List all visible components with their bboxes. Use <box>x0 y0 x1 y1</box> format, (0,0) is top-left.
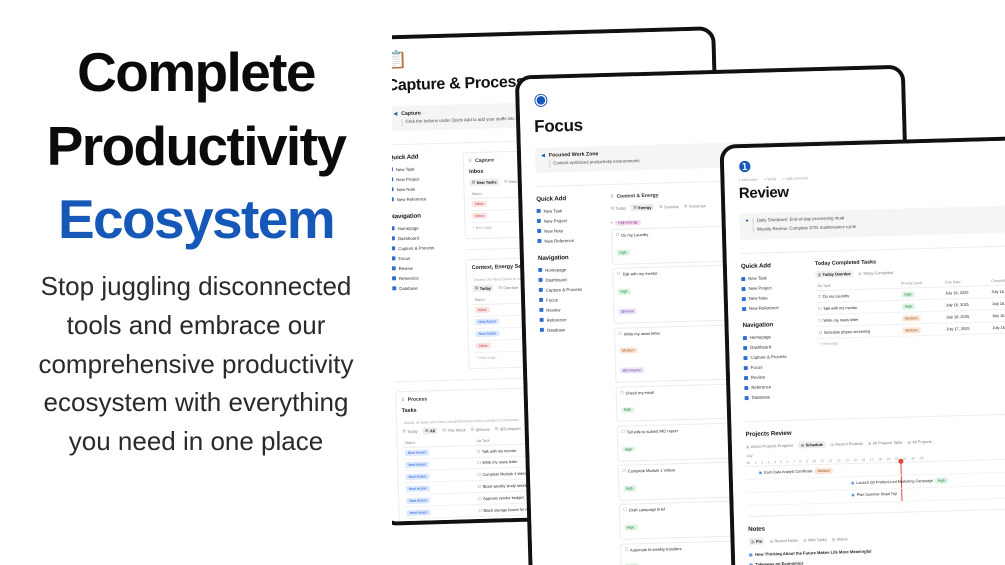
quick-add-item-new-reference[interactable]: New Reference <box>537 236 601 245</box>
sidebar-item-capture-process[interactable]: Capture & Process <box>743 353 807 362</box>
tab-this-week[interactable]: This Week <box>442 426 465 434</box>
sidebar-column: Quick Add New Task New Project New Note … <box>536 194 616 565</box>
tab-new-tasks[interactable]: New Tasks <box>469 178 499 186</box>
sidebar-item-dashboard[interactable]: Dashboard <box>743 343 807 352</box>
label: New Project <box>748 286 771 292</box>
label: New Note <box>544 228 563 234</box>
label: Dashboard <box>545 277 566 283</box>
tab-all-projects[interactable]: All Projects <box>907 438 932 446</box>
navigation-list: Homepage Dashboard Capture & Process Foc… <box>743 333 809 402</box>
priority-badge: High <box>621 407 634 413</box>
checkbox-icon[interactable]: ☐ <box>477 448 481 453</box>
square-icon <box>537 219 541 223</box>
quick-add-item-new-note[interactable]: New Note <box>742 294 806 303</box>
tick: 13 <box>837 459 841 463</box>
sidebar-item-dashboard[interactable]: Dashboard <box>538 275 602 284</box>
quick-add-item-new-task[interactable]: New Task <box>389 164 453 173</box>
sidebar-item-database[interactable]: Database <box>392 283 456 292</box>
label: Review <box>399 265 413 270</box>
divider <box>745 413 1005 422</box>
square-icon <box>540 318 544 322</box>
tab-today-completed[interactable]: Today Completed <box>858 269 893 277</box>
callout-review-rituals: ● Daily Shutdown: End-of-day processing … <box>739 205 1005 240</box>
tick: 17 <box>870 458 874 462</box>
square-icon <box>537 209 541 213</box>
projects-review-section: Projects Review Active Projects Progress… <box>746 423 1005 506</box>
priority-badge: Medium <box>902 315 921 321</box>
label: New Project <box>396 176 419 182</box>
navigation-list: Homepage Dashboard Capture & Process Foc… <box>391 223 457 292</box>
square-icon <box>537 229 541 233</box>
tab-at-home[interactable]: @Home <box>471 425 490 433</box>
task-label: Approve vendor budget <box>483 495 524 501</box>
label: Focus <box>751 365 763 370</box>
projects-review-heading: Projects Review <box>746 423 1005 438</box>
label: Homepage <box>398 225 419 231</box>
label: Database <box>399 285 418 291</box>
hero-paragraph: Stop juggling disconnected tools and emb… <box>31 267 361 461</box>
quick-add-list: New Task New Project New Note New Refere… <box>389 164 454 203</box>
completed-tabs: Today Overdue Today Completed <box>815 265 1005 278</box>
status-badge: Next Action <box>475 319 499 325</box>
sidebar-item-homepage[interactable]: Homepage <box>391 223 455 232</box>
quick-add-item-new-reference[interactable]: New Reference <box>742 304 806 313</box>
status-badge: Inbox <box>476 343 491 349</box>
navigation-heading: Navigation <box>742 321 806 330</box>
square-icon <box>392 266 396 270</box>
review-columns: Quick Add New Task New Project New Note … <box>741 255 1005 411</box>
tab-all[interactable]: All <box>422 427 437 434</box>
square-icon <box>744 366 748 370</box>
tab-recent-projects[interactable]: Recent Projects <box>830 440 863 448</box>
checkbox-icon[interactable]: ☐ <box>477 472 481 477</box>
tick: 16 <box>862 458 866 462</box>
page-title: Complete Productivity Ecosystem <box>16 36 376 257</box>
sidebar-item-homepage[interactable]: Homepage <box>538 265 602 274</box>
sidebar-item-capture-process[interactable]: Capture & Process <box>391 243 455 252</box>
sidebar-item-database[interactable]: Database <box>540 325 604 334</box>
task-label: Talk with my mentor <box>823 305 858 311</box>
label: Dashboard <box>398 235 419 241</box>
timeline-bar[interactable]: Launch Q3 Product-Led Marketing Campaign… <box>851 478 948 486</box>
square-icon <box>743 336 747 340</box>
label: Homepage <box>545 267 566 273</box>
task-label: Do my Laundry <box>823 293 850 299</box>
page-heading: Focus <box>534 107 888 137</box>
status-badge: Next Action <box>406 486 430 492</box>
tick: 14 <box>845 458 849 462</box>
quick-add-item-new-project[interactable]: New Project <box>389 174 453 183</box>
checkbox-icon[interactable]: ☐ <box>479 520 483 521</box>
sidebar-item-focus[interactable]: Focus <box>539 295 603 304</box>
context-badge: @Computer <box>620 368 645 374</box>
completed-tasks-table: Aa Task Priority Level Due Date Complete… <box>815 276 1005 339</box>
completed-heading: Today Completed Tasks <box>815 255 1005 267</box>
headline-line-2: Productivity <box>16 110 376 184</box>
label: Focus <box>546 297 558 302</box>
notes-section: Notes Pin Recent Notes With Tasks Status… <box>748 518 1005 565</box>
cell-due: July 17, 2025 <box>944 322 991 335</box>
navigation-heading: Navigation <box>538 253 602 262</box>
hero-section: Complete Productivity Ecosystem Stop jug… <box>0 0 392 565</box>
sidebar-column: Quick Add New Task New Project New Note … <box>389 152 459 371</box>
label: New Reference <box>544 238 574 244</box>
cell-done: July 16, 2025 <box>990 309 1005 322</box>
label: Focus <box>398 255 410 260</box>
label: New Project <box>544 218 567 224</box>
label: Capture & Process <box>398 245 434 251</box>
checkbox-icon[interactable]: ☐ <box>818 294 822 299</box>
eye-icon: ◉ <box>533 81 887 108</box>
tick: 30 <box>746 461 750 465</box>
checkbox-icon[interactable]: ☐ <box>818 318 822 323</box>
task-label: Talk with my mentor <box>482 447 517 453</box>
status-badge: Next Action <box>476 331 500 337</box>
main-column: Today Completed Tasks Today Overdue Toda… <box>815 255 1005 409</box>
status-badge: Inbox <box>472 201 487 207</box>
tick: 5 <box>780 460 782 464</box>
status-badge: Next Action <box>406 510 430 516</box>
tick: 11 <box>820 459 824 463</box>
square-icon <box>392 276 396 280</box>
status-badge: Inbox <box>472 213 487 219</box>
status-badge: Next Action <box>405 450 429 456</box>
screen-review: ❶ Add cover Verify Add comment Review ● … <box>724 140 1005 565</box>
timeline-bar[interactable]: Plan Summer Road Trip <box>851 492 897 497</box>
label: New Task <box>544 208 563 214</box>
notes-list: How Thinking About the Future Makes Life… <box>749 541 1005 565</box>
tick: 21 <box>903 457 907 461</box>
tick: 1 <box>755 461 757 465</box>
bar-title: Plan Summer Road Trip <box>857 492 898 497</box>
info-icon: ◀ <box>541 153 545 160</box>
sidebar-item-focus[interactable]: Focus <box>744 363 808 372</box>
tab-today[interactable]: Today <box>402 427 417 434</box>
bar-badge: Medium <box>815 468 834 474</box>
label: Reference <box>751 385 771 391</box>
quick-add-item-new-note[interactable]: New Note <box>389 184 453 193</box>
sidebar-item-capture-process[interactable]: Capture & Process <box>539 285 603 294</box>
bar-badge: High <box>935 478 948 484</box>
tab-energy[interactable]: Energy <box>631 203 654 211</box>
square-icon <box>741 287 745 291</box>
square-icon <box>745 396 749 400</box>
column-badge: High Energy <box>615 220 640 226</box>
navigation-list: Homepage Dashboard Capture & Process Foc… <box>538 265 604 334</box>
quick-add-heading: Quick Add <box>389 152 453 161</box>
sidebar-item-homepage[interactable]: Homepage <box>743 333 807 342</box>
square-icon <box>538 278 542 282</box>
tick: 7 <box>793 460 795 464</box>
checkbox-icon[interactable]: ☐ <box>478 496 482 501</box>
square-icon <box>392 286 396 290</box>
status-badge: Next Action <box>405 474 429 480</box>
checkbox-icon[interactable]: ☐ <box>819 330 823 335</box>
checkbox-icon[interactable]: ☐ <box>818 306 822 311</box>
label: Review <box>546 307 560 312</box>
label: Reference <box>547 317 567 323</box>
tick: 23 <box>919 456 923 460</box>
sidebar-item-focus[interactable]: Focus <box>391 253 455 262</box>
quick-add-item-new-project[interactable]: New Project <box>537 216 601 225</box>
cell-done: July 16, 2025 <box>990 297 1005 310</box>
add-cover-button[interactable]: Add cover <box>738 178 757 183</box>
tick: 2 <box>761 461 763 465</box>
tick: 3 <box>767 461 769 465</box>
quick-add-heading: Quick Add <box>741 262 805 271</box>
tab-all-projects-table[interactable]: All Projects Table <box>868 439 903 447</box>
bullet-icon: ● <box>746 218 749 225</box>
checkbox-icon[interactable]: ☐ <box>477 460 481 465</box>
quick-add-list: New Task New Project New Note New Refere… <box>537 206 602 245</box>
checkbox-icon[interactable]: ☐ <box>478 484 482 489</box>
quick-add-item-new-note[interactable]: New Note <box>537 226 601 235</box>
label: Capture & Process <box>750 354 786 360</box>
context-badge: @Home <box>618 309 637 315</box>
label: Dashboard <box>750 345 771 351</box>
sidebar-item-dashboard[interactable]: Dashboard <box>391 233 455 242</box>
task-label: Block weekly study sessions <box>483 483 532 489</box>
sidebar-item-database[interactable]: Database <box>744 393 808 402</box>
priority-badge: High <box>901 291 914 297</box>
square-icon <box>742 307 746 311</box>
divider <box>748 508 1005 517</box>
tick: 10 <box>812 459 816 463</box>
tab-status[interactable]: Status <box>832 535 848 542</box>
sidebar-item-reference[interactable]: Reference <box>744 383 808 392</box>
quick-add-item-new-task[interactable]: New Task <box>741 274 805 283</box>
tick: 9 <box>806 460 808 464</box>
quick-add-item-new-reference[interactable]: New Reference <box>390 194 454 203</box>
headline-line-1: Complete <box>16 36 376 110</box>
square-icon <box>742 297 746 301</box>
tab-overdue[interactable]: Overdue <box>498 283 518 291</box>
square-icon <box>540 328 544 332</box>
task-label: Draft campaign brief <box>484 519 519 521</box>
navigation-heading: Navigation <box>390 211 454 220</box>
label: New Note <box>396 186 415 192</box>
headline-line-3-accent: Ecosystem <box>16 183 376 257</box>
priority-badge: High <box>623 485 636 491</box>
status-badge: Inbox <box>475 307 490 313</box>
square-icon <box>539 308 543 312</box>
square-icon <box>743 356 747 360</box>
tick: 12 <box>828 459 832 463</box>
label: New Reference <box>397 196 427 202</box>
bar-title: Earn Data Analyst Certificate <box>764 469 813 474</box>
timeline-bar[interactable]: Earn Data Analyst Certificate Medium <box>759 468 834 476</box>
sidebar-item-review[interactable]: Review <box>392 263 456 272</box>
add-comment-button[interactable]: Add comment <box>783 176 808 181</box>
tab-recent-notes[interactable]: Recent Notes <box>769 537 798 545</box>
cell-done: July 16, 2025 <box>989 285 1005 298</box>
label: Review <box>751 375 765 380</box>
label: Homepage <box>750 335 771 341</box>
square-icon <box>539 298 543 302</box>
square-icon <box>744 376 748 380</box>
tab-with-tasks[interactable]: With Tasks <box>803 536 827 544</box>
verify-button[interactable]: Verify <box>764 177 776 181</box>
status-badge: Next Action <box>405 462 429 468</box>
priority-badge: Medium <box>902 327 921 333</box>
task-label: Write my news letter <box>823 317 858 323</box>
square-icon <box>537 239 541 243</box>
label: Database <box>547 327 566 333</box>
bar-title: Launch Q3 Product-Led Marketing Campaign <box>856 479 932 485</box>
square-icon <box>741 277 745 281</box>
quick-add-list: New Task New Project New Note New Refere… <box>741 274 806 313</box>
status-badge: Next Action <box>406 498 430 504</box>
tab-schedule[interactable]: Schedule <box>798 441 825 449</box>
priority-badge: High <box>617 289 630 295</box>
priority-badge: High <box>902 303 915 309</box>
priority-badge: High <box>616 250 629 256</box>
tick: 8 <box>799 460 801 464</box>
sidebar-item-reference[interactable]: Reference <box>540 315 604 324</box>
sidebar-item-reference[interactable]: Reference <box>392 273 456 282</box>
tick: 22 <box>911 457 915 461</box>
checkbox-icon[interactable]: ☐ <box>478 508 482 513</box>
tab-pin[interactable]: Pin <box>749 538 765 545</box>
task-label: Complete Module 1 videos <box>482 471 528 477</box>
label: New Task <box>748 276 767 282</box>
tick: 15 <box>853 458 857 462</box>
tab-today[interactable]: Today <box>472 284 493 292</box>
tab-active-projects-progress[interactable]: Active Projects Progress <box>746 442 793 450</box>
square-icon <box>538 268 542 272</box>
sidebar-item-review[interactable]: Review <box>539 305 603 314</box>
tick: 18 <box>878 458 882 462</box>
device-mockup-review: ❶ Add cover Verify Add comment Review ● … <box>720 135 1005 565</box>
square-icon <box>391 256 395 260</box>
square-icon <box>743 346 747 350</box>
square-icon <box>539 288 543 292</box>
label: Reference <box>399 275 419 281</box>
col-completed: Completed <box>989 276 1005 286</box>
tab-today-overdue[interactable]: Today Overdue <box>815 270 853 278</box>
quick-add-heading: Quick Add <box>536 194 600 203</box>
tick: 6 <box>787 460 789 464</box>
square-icon <box>744 386 748 390</box>
priority-badge: Medium <box>619 348 638 354</box>
cell-priority: Medium <box>900 323 944 336</box>
tab-today[interactable]: Today <box>610 204 625 211</box>
cell-done: July 16, 2025 <box>990 321 1005 334</box>
tick: 4 <box>774 460 776 464</box>
tab-overdue[interactable]: Overdue <box>659 203 679 211</box>
label: New Task <box>396 166 415 172</box>
clipboard-icon: 📋 <box>386 43 698 69</box>
label: Database <box>752 395 771 401</box>
sidebar-item-review[interactable]: Review <box>744 373 808 382</box>
label: New Note <box>749 296 768 302</box>
priority-badge: High <box>624 525 637 531</box>
tab-tomorrow[interactable]: Tomorrow <box>684 202 706 210</box>
tab-at-computer[interactable]: @Computer <box>495 424 521 432</box>
priority-badge: High <box>622 446 635 452</box>
divider <box>741 245 1005 254</box>
cell-status: Next Action <box>405 517 477 522</box>
label: Capture & Process <box>546 286 582 292</box>
label: New Reference <box>749 305 779 311</box>
quick-add-item-new-project[interactable]: New Project <box>741 284 805 293</box>
task-label: Schedule physio screening <box>824 329 871 335</box>
quick-add-item-new-task[interactable]: New Task <box>537 206 601 215</box>
info-icon: ◀ <box>393 111 397 118</box>
task-label: Write my news letter <box>482 459 517 465</box>
tick: 19 <box>886 457 890 461</box>
sidebar-column: Quick Add New Task New Project New Note … <box>741 262 809 412</box>
notes-heading: Notes <box>748 518 1005 533</box>
